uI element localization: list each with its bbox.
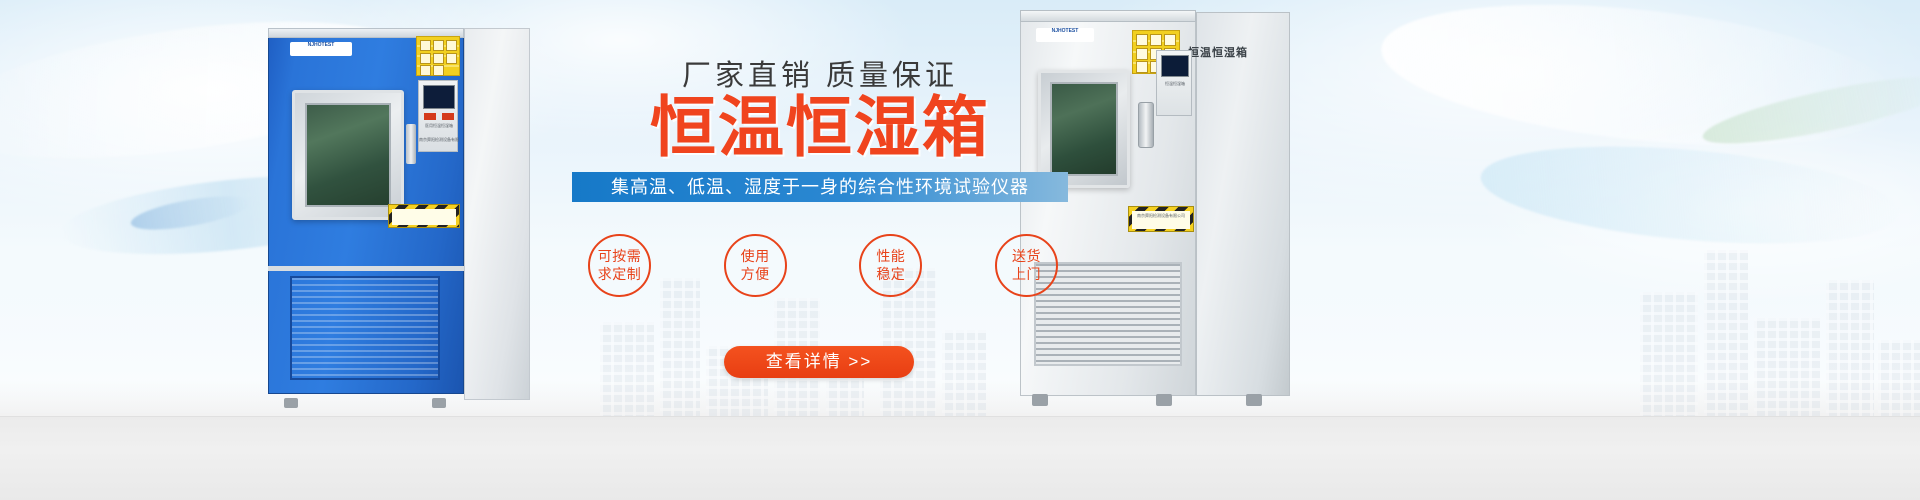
left-foot-2: [432, 398, 446, 408]
feature-badge-custom[interactable]: 可按需 求定制: [588, 234, 651, 297]
badge-line-2: 稳定: [876, 265, 905, 283]
banner-copy: 厂家直销 质量保证 恒温恒湿箱 集高温、低温、湿度于一身的综合性环境试验仪器 可…: [560, 0, 1080, 440]
right-controller-screen: [1161, 55, 1189, 77]
right-product-nameplate: 恒温恒湿箱: [1188, 44, 1258, 60]
feature-badge-delivery[interactable]: 送货 上门: [995, 234, 1058, 297]
feature-badge-list: 可按需 求定制 使用 方便 性能 稳定 送货 上门: [588, 232, 1058, 298]
left-brand-plate: NJHOTEST: [290, 42, 352, 56]
left-ventilation-grille: [290, 276, 440, 380]
badge-line-1: 性能: [876, 247, 905, 265]
feature-badge-stable[interactable]: 性能 稳定: [859, 234, 922, 297]
badge-line-1: 可按需: [598, 247, 642, 265]
right-product-name: 恒温恒湿箱: [1188, 44, 1258, 60]
product-banner: NJHOTEST 医用恒温恒湿箱 南京舜阳检测设备有限公司: [0, 0, 1920, 500]
banner-tagline: 厂家直销 质量保证: [560, 52, 1080, 94]
left-brand-text: NJHOTEST: [290, 42, 352, 48]
left-cabinet-side: [464, 28, 530, 400]
view-details-button[interactable]: 查看详情 >>: [724, 346, 914, 378]
right-panel-caption: 恒温恒湿箱: [1157, 81, 1193, 86]
banner-subtitle: 集高温、低温、湿度于一身的综合性环境试验仪器: [572, 172, 1068, 202]
left-door-handle: [406, 124, 416, 164]
badge-line-1: 送货: [1012, 247, 1041, 265]
left-company-caption: 南京舜阳检测设备有限公司: [419, 137, 459, 142]
left-foot-1: [284, 398, 298, 408]
left-body-divider: [268, 266, 464, 271]
right-control-panel: 恒温恒湿箱: [1156, 50, 1192, 116]
badge-line-2: 上门: [1012, 265, 1041, 283]
right-caution-label: 南京舜阳检测设备有限公司: [1128, 206, 1194, 232]
left-chamber-door: [292, 90, 404, 220]
badge-line-2: 求定制: [598, 265, 642, 283]
banner-headline: 恒温恒湿箱: [560, 92, 1080, 164]
left-caution-label: [388, 204, 460, 228]
right-company-caption: 南京舜阳检测设备有限公司: [1132, 211, 1190, 218]
left-panel-caption: 医用恒温恒湿箱: [419, 123, 459, 128]
right-foot-3: [1246, 394, 1262, 406]
left-control-panel: 医用恒温恒湿箱 南京舜阳检测设备有限公司: [418, 80, 458, 152]
left-door-window: [305, 103, 391, 207]
left-warning-sticker: [416, 36, 460, 76]
right-door-handle: [1138, 102, 1154, 148]
right-cabinet-side: [1196, 12, 1290, 396]
badge-line-2: 方便: [741, 265, 770, 283]
left-led-temp: [424, 113, 436, 120]
feature-badge-easy-use[interactable]: 使用 方便: [724, 234, 787, 297]
right-foot-2: [1156, 394, 1172, 406]
badge-line-1: 使用: [741, 247, 770, 265]
product-image-left: NJHOTEST 医用恒温恒湿箱 南京舜阳检测设备有限公司: [268, 28, 530, 400]
left-led-humidity: [442, 113, 454, 120]
left-controller-screen: [423, 85, 455, 109]
